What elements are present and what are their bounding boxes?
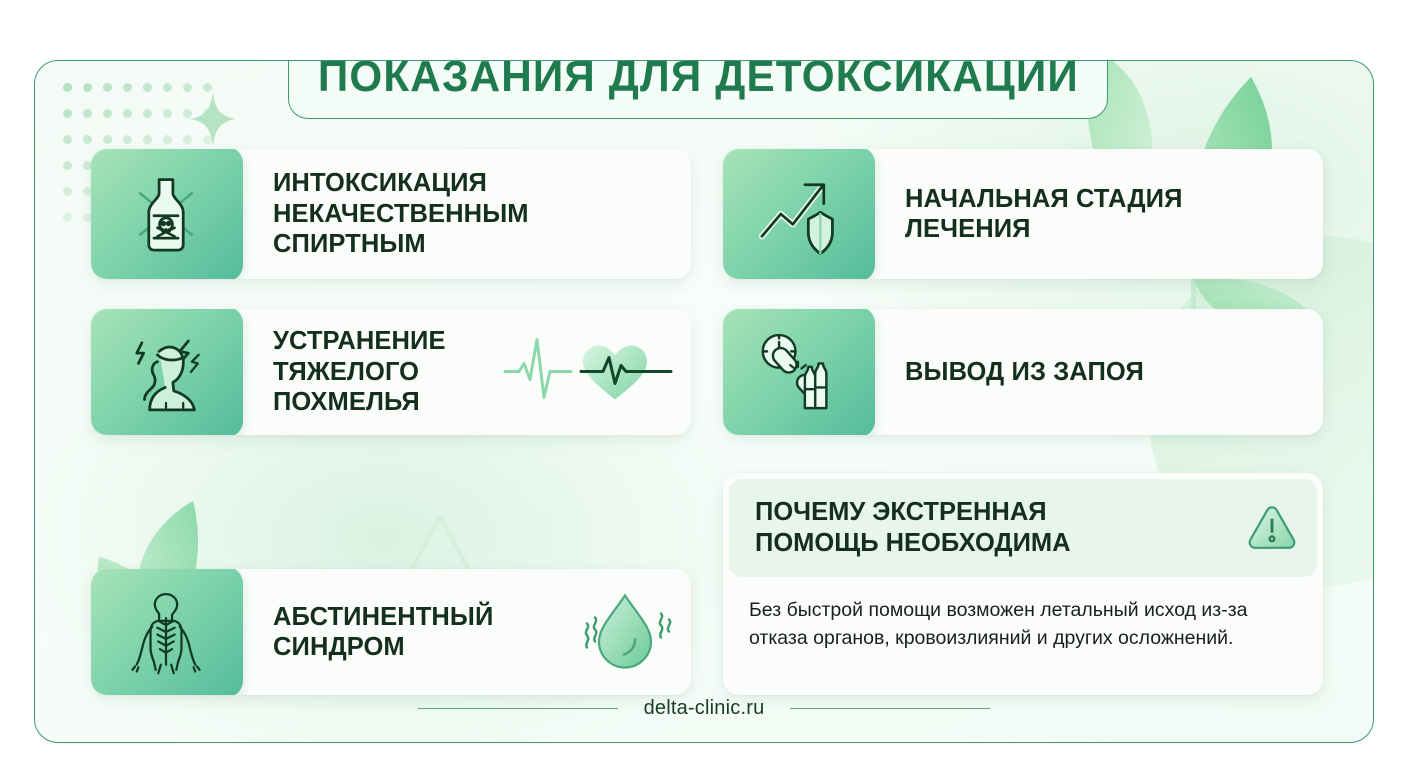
page-title-chip: ПОКАЗАНИЯ ДЛЯ ДЕТОКСИКАЦИИ bbox=[288, 60, 1108, 119]
nervous-system-icon bbox=[123, 589, 209, 675]
clock-broken-chain-bottles-icon bbox=[755, 329, 841, 415]
card-title: УСТРАНЕНИЕ ТЯЖЕЛОГО ПОХМЕЛЬЯ bbox=[273, 326, 446, 417]
poison-bottle-icon-tile bbox=[91, 149, 243, 279]
sweat-droplet-icon bbox=[573, 588, 673, 677]
emergency-warning-heading: ПОЧЕМУ ЭКСТРЕННАЯ ПОМОЩЬ НЕОБХОДИМА bbox=[755, 497, 1245, 558]
footer-rule-right bbox=[790, 708, 990, 709]
footer-site-url: delta-clinic.ru bbox=[644, 697, 765, 720]
clock-broken-chain-bottles-icon-tile bbox=[723, 309, 875, 435]
nervous-system-icon-tile bbox=[91, 569, 243, 695]
card-title: ИНТОКСИКАЦИЯ НЕКАЧЕСТВЕННЫМ СПИРТНЫМ bbox=[273, 168, 529, 259]
card-intoxication[interactable]: ИНТОКСИКАЦИЯ НЕКАЧЕСТВЕННЫМ СПИРТНЫМ bbox=[91, 149, 691, 279]
poison-bottle-icon bbox=[123, 171, 209, 257]
emergency-warning-panel: ПОЧЕМУ ЭКСТРЕННАЯ ПОМОЩЬ НЕОБХОДИМА Без … bbox=[723, 473, 1323, 695]
warning-triangle-icon bbox=[1245, 501, 1299, 555]
card-binge-withdrawal[interactable]: ВЫВОД ИЗ ЗАПОЯ bbox=[723, 309, 1323, 435]
card-title: ВЫВОД ИЗ ЗАПОЯ bbox=[905, 357, 1144, 387]
card-title: АБСТИНЕНТНЫЙ СИНДРОМ bbox=[273, 602, 493, 663]
headache-person-icon-tile bbox=[91, 309, 243, 435]
cards-grid: ИНТОКСИКАЦИЯ НЕКАЧЕСТВЕННЫМ СПИРТНЫМ bbox=[35, 61, 1373, 742]
page-title: ПОКАЗАНИЯ ДЛЯ ДЕТОКСИКАЦИИ bbox=[317, 60, 1078, 102]
headache-person-icon bbox=[123, 329, 209, 415]
footer: delta-clinic.ru bbox=[35, 697, 1373, 720]
emergency-warning-body: Без быстрой помощи возможен летальный ис… bbox=[723, 583, 1323, 652]
card-withdrawal-syndrome[interactable]: АБСТИНЕНТНЫЙ СИНДРОМ bbox=[91, 569, 691, 695]
card-hangover[interactable]: УСТРАНЕНИЕ ТЯЖЕЛОГО ПОХМЕЛЬЯ bbox=[91, 309, 691, 435]
ecg-heartbeat-heart-icon bbox=[503, 334, 673, 411]
poster-frame: ПОКАЗАНИЯ ДЛЯ ДЕТОКСИКАЦИИ bbox=[34, 60, 1374, 743]
card-title: НАЧАЛЬНАЯ СТАДИЯ ЛЕЧЕНИЯ bbox=[905, 184, 1183, 245]
emergency-warning-header: ПОЧЕМУ ЭКСТРЕННАЯ ПОМОЩЬ НЕОБХОДИМА bbox=[729, 479, 1317, 577]
footer-rule-left bbox=[418, 708, 618, 709]
growth-arrow-shield-icon-tile bbox=[723, 149, 875, 279]
card-initial-treatment-stage[interactable]: НАЧАЛЬНАЯ СТАДИЯ ЛЕЧЕНИЯ bbox=[723, 149, 1323, 279]
growth-arrow-shield-icon bbox=[755, 171, 841, 257]
